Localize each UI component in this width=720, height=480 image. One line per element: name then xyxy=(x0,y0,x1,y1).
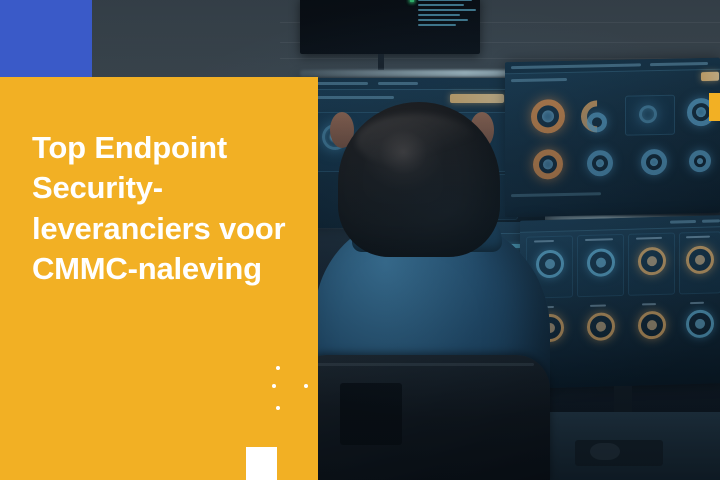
monitor-lower-right xyxy=(520,215,720,389)
dot-grid-decoration xyxy=(272,366,312,410)
office-chair xyxy=(300,355,550,480)
page-title: Top Endpoint Security-leveranciers voor … xyxy=(32,128,300,289)
hero-banner: Top Endpoint Security-leveranciers voor … xyxy=(0,0,720,480)
person-head xyxy=(338,102,500,257)
chair-backrest-slot xyxy=(340,383,402,445)
donut-chart-icon xyxy=(533,149,563,180)
mouse-icon xyxy=(590,443,620,460)
wall-mounted-status-display xyxy=(300,0,480,54)
blue-accent-square xyxy=(0,0,92,78)
database-icon xyxy=(638,311,666,340)
dashboard-alert-chip xyxy=(450,94,504,103)
hair-swirl xyxy=(362,122,448,194)
status-text-rows xyxy=(418,0,476,29)
donut-chart-icon xyxy=(531,99,565,134)
donut-chart-icon xyxy=(587,150,613,177)
donut-chart-icon xyxy=(689,150,711,172)
fingerprint-icon xyxy=(686,309,714,338)
yellow-edge-accent xyxy=(709,93,720,121)
cloud-lock-icon xyxy=(587,312,615,341)
monitor-upper-right xyxy=(505,58,720,218)
display-stand xyxy=(378,54,384,70)
white-accent-rectangle xyxy=(246,447,277,480)
donut-chart-icon xyxy=(641,149,667,176)
